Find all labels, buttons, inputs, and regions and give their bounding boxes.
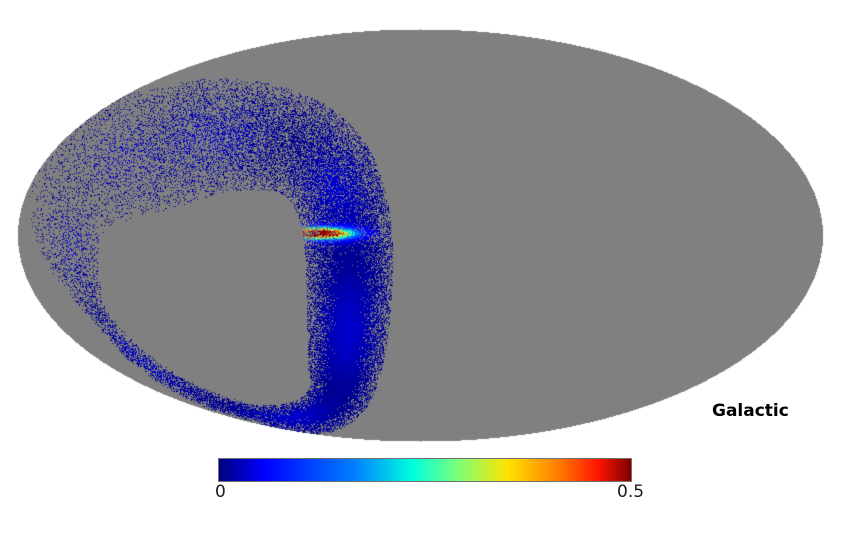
sky-map-figure: I Stokes Galactic 0 0.5 (0, 0, 850, 540)
colorbar[interactable] (218, 458, 632, 482)
mollweide-sky-map (0, 0, 850, 455)
colorbar-min-label: 0 (215, 482, 226, 502)
coordinate-system-label: Galactic (712, 401, 789, 421)
colorbar-gradient (218, 458, 632, 482)
colorbar-max-label: 0.5 (617, 482, 644, 502)
